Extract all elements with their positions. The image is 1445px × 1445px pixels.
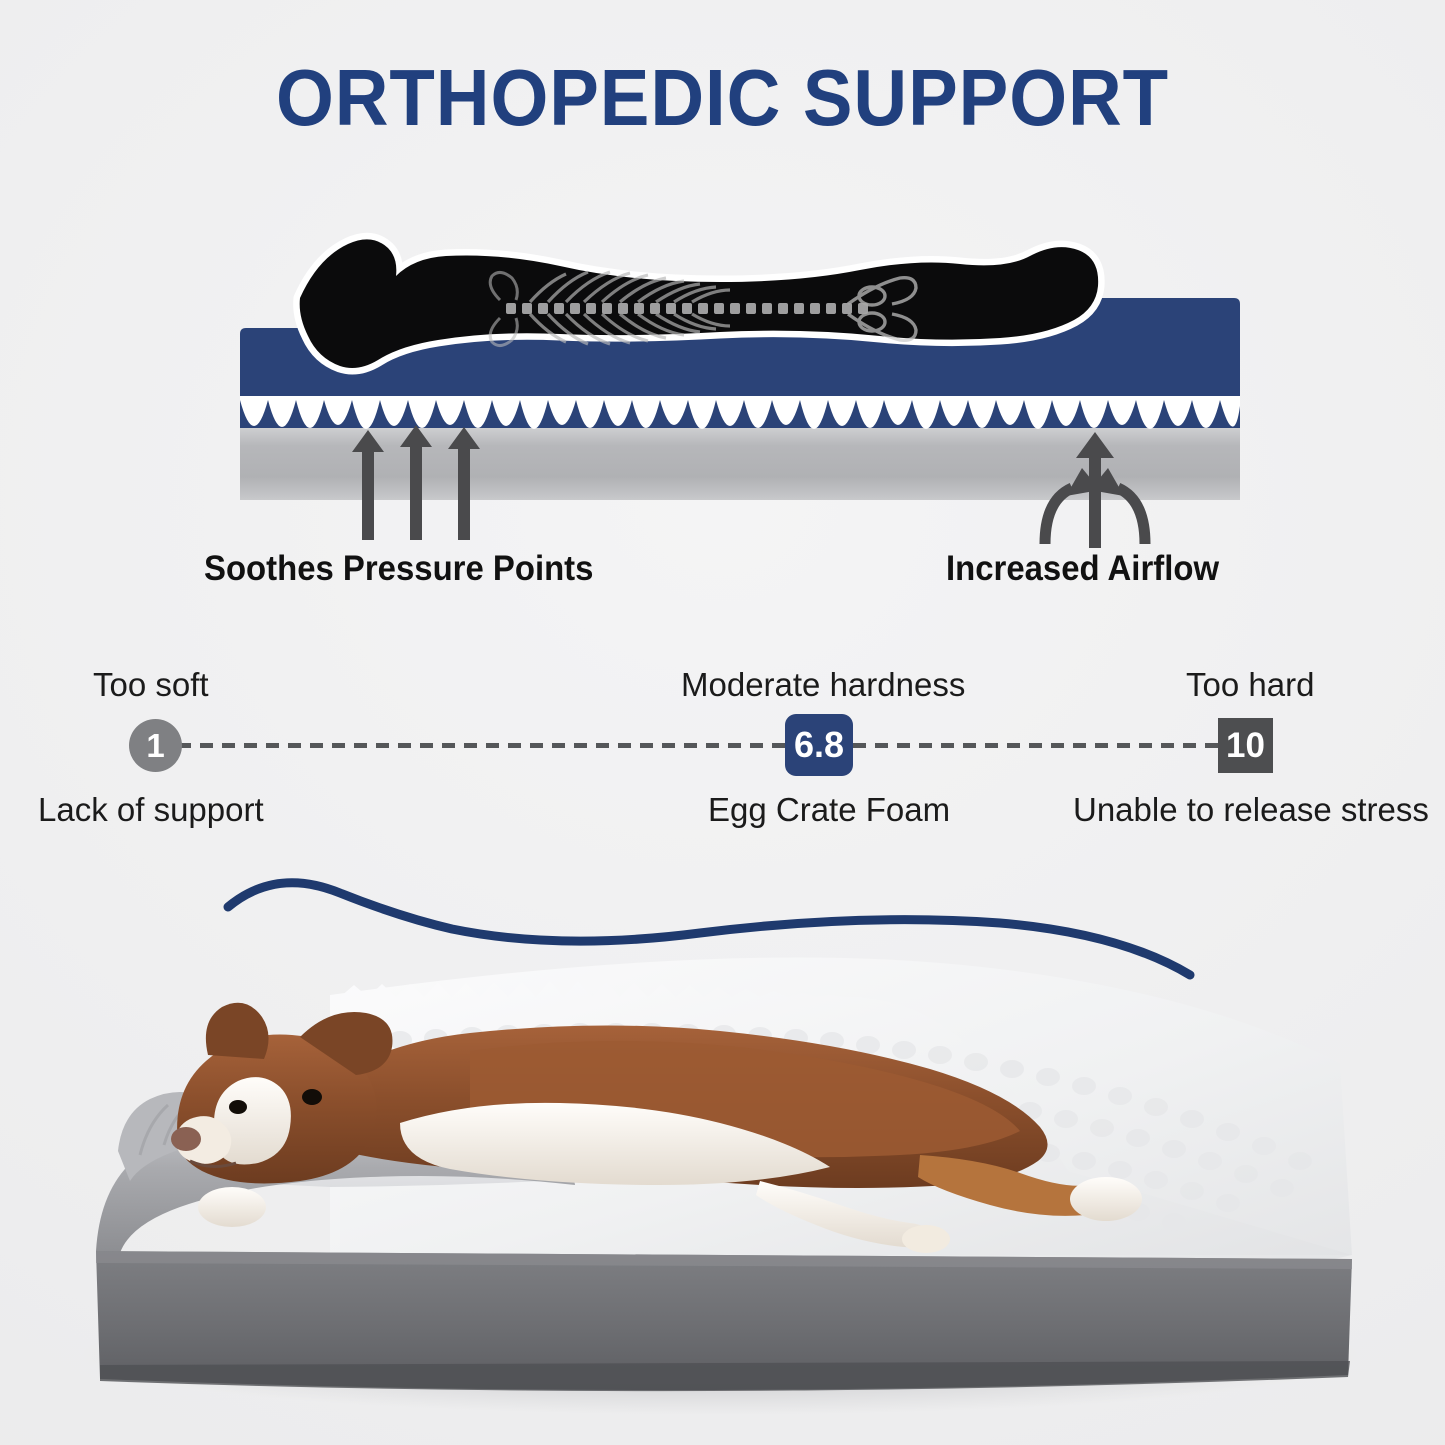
caption-increased-airflow: Increased Airflow xyxy=(946,551,1219,586)
bed-base-box xyxy=(96,1251,1352,1391)
lifestyle-photo xyxy=(0,855,1445,1445)
scale-sublabel-egg-crate-foam: Egg Crate Foam xyxy=(708,793,950,826)
scale-badge-6-8: 6.8 xyxy=(785,714,853,776)
scale-label-too-soft: Too soft xyxy=(93,668,209,701)
infographic-canvas: ORTHOPEDIC SUPPORT xyxy=(0,0,1445,1445)
caption-soothes-pressure-points: Soothes Pressure Points xyxy=(204,551,593,586)
scale-connector-right xyxy=(853,743,1221,748)
scale-badge-1: 1 xyxy=(129,719,182,772)
scale-badge-10: 10 xyxy=(1218,718,1273,773)
scale-sublabel-lack-of-support: Lack of support xyxy=(38,793,264,826)
dog-rear-paw xyxy=(1070,1177,1142,1221)
scale-label-too-hard: Too hard xyxy=(1186,668,1314,701)
pressure-point-arrows xyxy=(352,425,480,540)
page-title: ORTHOPEDIC SUPPORT xyxy=(51,58,1395,138)
dog-eye-near xyxy=(229,1100,247,1114)
dog-eye-far xyxy=(302,1089,322,1105)
scale-label-moderate-hardness: Moderate hardness xyxy=(681,668,965,701)
scale-sublabel-unable-to-release-stress: Unable to release stress xyxy=(1073,793,1429,826)
dog-tucked-paw xyxy=(198,1187,266,1227)
dog-nose xyxy=(171,1127,201,1151)
dog-front-paw xyxy=(902,1225,950,1253)
scale-connector-left xyxy=(178,743,786,748)
